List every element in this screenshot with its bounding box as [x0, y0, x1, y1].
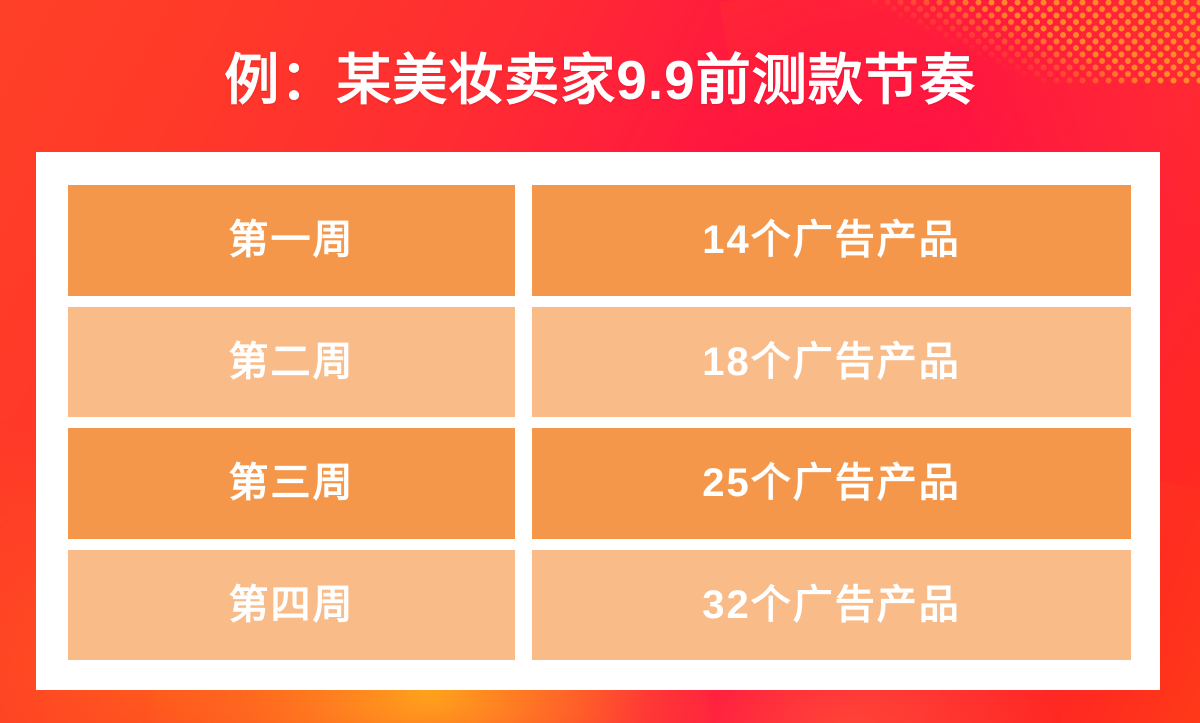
count-value-cell: 18个广告产品: [532, 307, 1131, 418]
count-value-cell: 14个广告产品: [532, 185, 1131, 296]
slide-canvas: 例：某美妆卖家9.9前测款节奏 第一周 14个广告产品 第二周 18个广告产品 …: [0, 0, 1200, 723]
schedule-table: 第一周 14个广告产品 第二周 18个广告产品 第三周 25个广告产品 第四周 …: [68, 185, 1131, 660]
week-label-cell: 第二周: [68, 307, 515, 418]
table-row: 第四周 32个广告产品: [68, 550, 1131, 661]
count-value-cell: 32个广告产品: [532, 550, 1131, 661]
week-label-cell: 第一周: [68, 185, 515, 296]
week-label-cell: 第四周: [68, 550, 515, 661]
week-label-cell: 第三周: [68, 428, 515, 539]
count-value-cell: 25个广告产品: [532, 428, 1131, 539]
table-row: 第三周 25个广告产品: [68, 428, 1131, 539]
page-title: 例：某美妆卖家9.9前测款节奏: [0, 47, 1200, 113]
schedule-card: 第一周 14个广告产品 第二周 18个广告产品 第三周 25个广告产品 第四周 …: [36, 152, 1160, 690]
table-row: 第二周 18个广告产品: [68, 307, 1131, 418]
table-row: 第一周 14个广告产品: [68, 185, 1131, 296]
